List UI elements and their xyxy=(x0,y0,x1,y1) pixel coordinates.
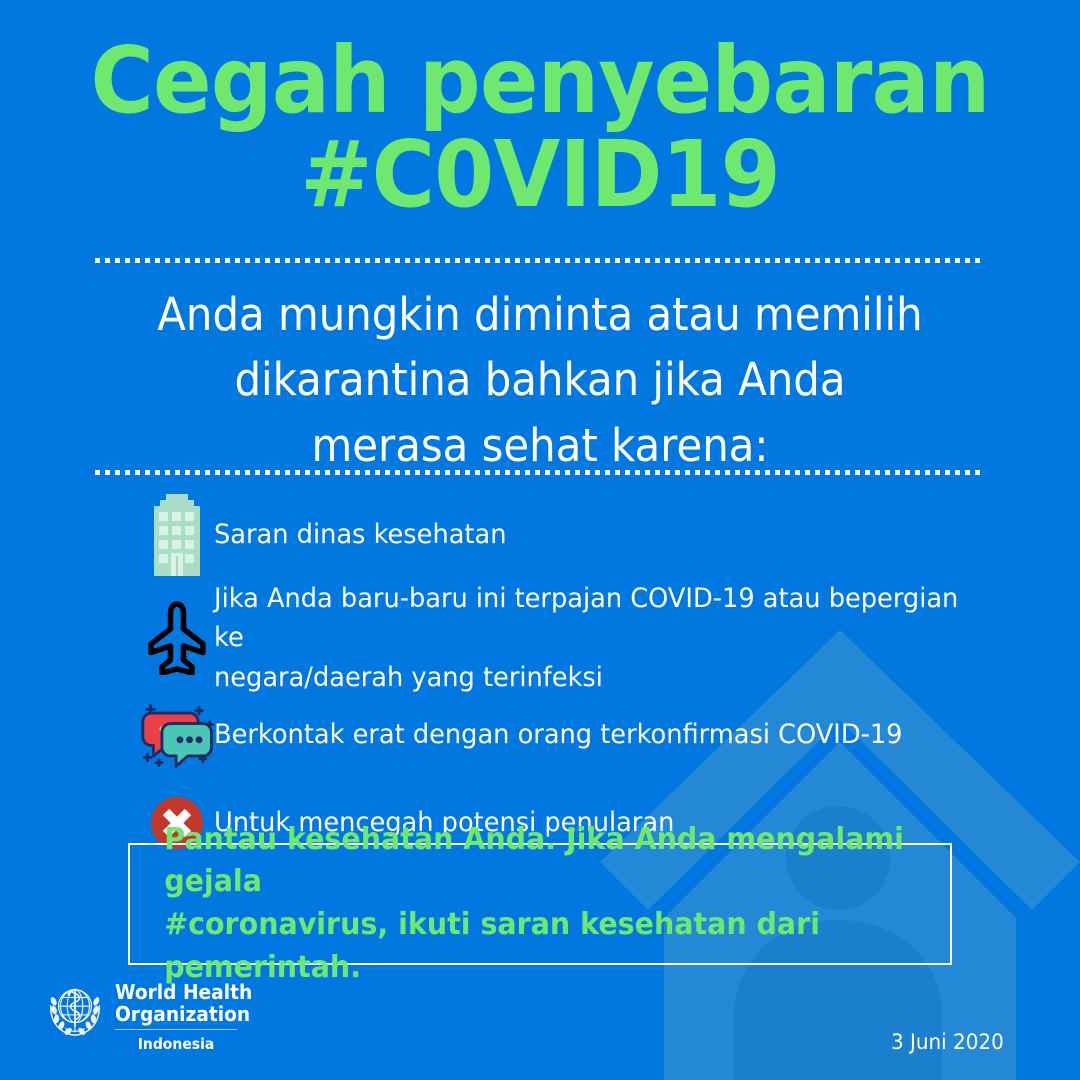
callout-line-2: #coronavirus, ikuti saran kesehatan dari… xyxy=(130,904,909,989)
subtitle-line-2: dikarantina bahkan jika Anda xyxy=(126,347,954,412)
callout-box: Pantau kesehatan Anda. Jika Anda mengala… xyxy=(128,843,952,965)
who-rule xyxy=(115,1029,237,1030)
list-item: Berkontak erat dengan orang terkonfirmas… xyxy=(140,698,1020,772)
list-item-line: Jika Anda baru-baru ini terpajan COVID-1… xyxy=(214,579,980,657)
callout-line-1: Pantau kesehatan Anda. Jika Anda mengala… xyxy=(130,819,909,904)
who-line-2: Organization xyxy=(115,1004,252,1026)
title-line-2: #C0VID19 xyxy=(32,128,1047,222)
list-item-line: negara/daerah yang terinfeksi xyxy=(214,658,980,697)
list-item-line: Saran dinas kesehatan xyxy=(214,515,506,554)
reasons-list: Saran dinas kesehatan Jika Anda baru-bar… xyxy=(140,492,1020,874)
who-line-1: World Health xyxy=(115,982,252,1004)
title-line-1: Cegah penyebaran xyxy=(32,34,1047,128)
date-stamp: 3 Juni 2020 xyxy=(891,1030,1004,1054)
who-wordmark: World Health Organization Indonesia xyxy=(115,980,263,1053)
speech-bubbles-icon xyxy=(140,699,220,771)
who-country-label: Indonesia xyxy=(119,1035,232,1053)
subtitle-line-3: merasa sehat karena: xyxy=(126,413,954,478)
divider-top xyxy=(95,258,985,263)
divider-bottom xyxy=(95,470,985,475)
list-item-text: Saran dinas kesehatan xyxy=(214,515,506,554)
list-item: Saran dinas kesehatan xyxy=(140,492,1020,578)
who-logo: World Health Organization Indonesia xyxy=(44,980,263,1053)
hospital-building-icon xyxy=(140,494,214,576)
subtitle-line-1: Anda mungkin diminta atau memilih xyxy=(126,282,954,347)
who-emblem-icon xyxy=(44,980,106,1042)
poster-subtitle: Anda mungkin diminta atau memilih dikara… xyxy=(126,282,954,478)
list-item-text: Jika Anda baru-baru ini terpajan COVID-1… xyxy=(214,579,980,696)
covid-awareness-poster: Cegah penyebaran #C0VID19 Anda mungkin d… xyxy=(0,0,1080,1080)
list-item: Jika Anda baru-baru ini terpajan COVID-1… xyxy=(140,592,1020,684)
list-item-text: Berkontak erat dengan orang terkonfirmas… xyxy=(214,715,903,754)
poster-title: Cegah penyebaran #C0VID19 xyxy=(0,34,1080,222)
airplane-icon xyxy=(140,601,214,675)
list-item-line: Berkontak erat dengan orang terkonfirmas… xyxy=(214,715,903,754)
